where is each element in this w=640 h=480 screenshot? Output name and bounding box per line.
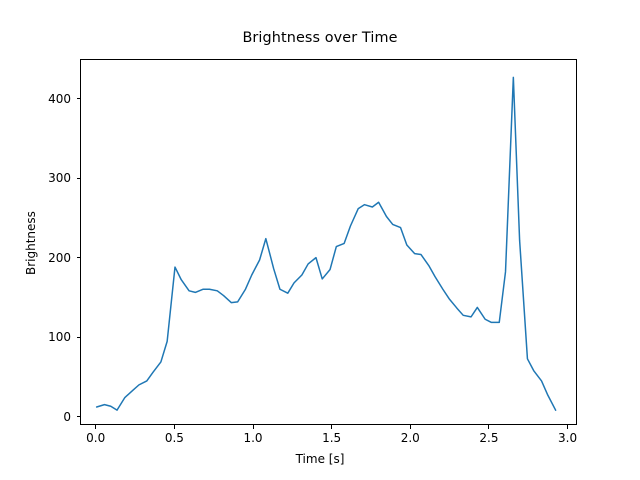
x-tick-mark bbox=[174, 425, 175, 429]
y-tick-mark bbox=[77, 98, 81, 99]
y-tick-mark bbox=[77, 416, 81, 417]
axis-tick-marks bbox=[0, 0, 640, 480]
x-tick-mark bbox=[331, 425, 332, 429]
x-tick-mark bbox=[253, 425, 254, 429]
x-tick-mark bbox=[95, 425, 96, 429]
y-tick-mark bbox=[77, 337, 81, 338]
y-tick-mark bbox=[77, 257, 81, 258]
matplotlib-figure: Brightness over Time 0100200300400 0.00.… bbox=[0, 0, 640, 480]
y-tick-mark bbox=[77, 178, 81, 179]
x-tick-mark bbox=[488, 425, 489, 429]
x-tick-mark bbox=[410, 425, 411, 429]
y-axis-label: Brightness bbox=[24, 211, 38, 275]
x-axis-label: Time [s] bbox=[0, 452, 640, 466]
x-tick-mark bbox=[567, 425, 568, 429]
